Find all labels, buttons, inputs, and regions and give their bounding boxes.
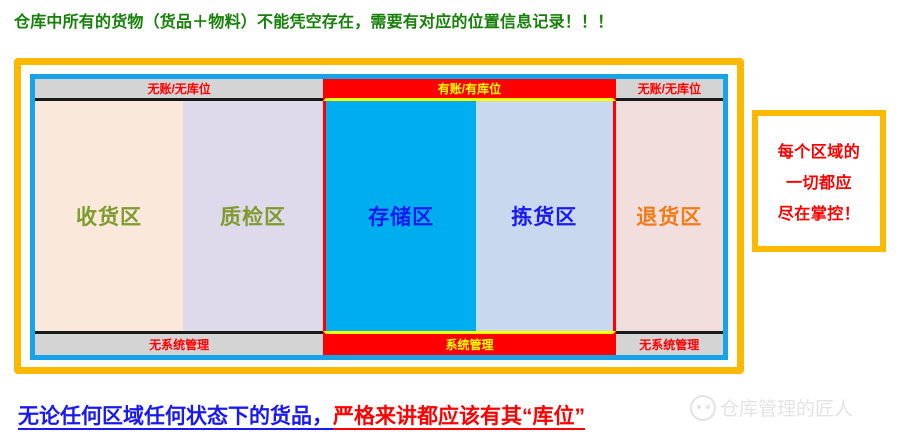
slide-root: 仓库中所有的货物（货品＋物料）不能凭空存在，需要有对应的位置信息记录！！！ 无账…	[0, 0, 900, 445]
top-band-mid-has-account: 有账/有库位	[323, 79, 615, 101]
bottom-band-left-no-system: 无系统管理	[35, 331, 323, 355]
zone-picking[interactable]: 拣货区	[476, 101, 616, 331]
callout-line-1: 每个区域的	[778, 138, 861, 162]
footer-statement-red: 严格来讲都应该有其“库位”	[333, 405, 585, 428]
zone-quality-inspection[interactable]: 质检区	[183, 101, 323, 331]
bottom-band-mid-system-managed: 系统管理	[323, 331, 615, 355]
callout-line-2: 一切都应	[786, 169, 852, 193]
zone-returns[interactable]: 退货区	[616, 101, 723, 331]
zone-returns-label: 退货区	[636, 201, 702, 231]
top-band-right-no-account: 无账/无库位	[616, 79, 723, 101]
warehouse-inner-frame: 无账/无库位 有账/有库位 无账/无库位 收货区 质检区 存储区	[30, 74, 728, 360]
top-band-left-no-account: 无账/无库位	[35, 79, 323, 101]
footer-statement-blue: 无论任何区域任何状态下的货品，	[18, 405, 333, 428]
zone-storage[interactable]: 存储区	[323, 101, 476, 331]
callout-line-3: 尽在掌控！	[778, 200, 861, 224]
top-status-band: 无账/无库位 有账/有库位 无账/无库位	[35, 79, 723, 101]
warehouse-diagram-frame: 无账/无库位 有账/有库位 无账/无库位 收货区 质检区 存储区	[14, 58, 744, 374]
zone-storage-label: 存储区	[368, 201, 434, 231]
bottom-band-right-no-system: 无系统管理	[616, 331, 723, 355]
zone-picking-label: 拣货区	[511, 201, 577, 231]
page-title: 仓库中所有的货物（货品＋物料）不能凭空存在，需要有对应的位置信息记录！！！	[14, 8, 874, 32]
warehouse-layout-grid: 无账/无库位 有账/有库位 无账/无库位 收货区 质检区 存储区	[35, 79, 723, 355]
callout-box: 每个区域的 一切都应 尽在掌控！	[752, 110, 886, 252]
zone-receiving[interactable]: 收货区	[35, 101, 183, 331]
footer-statement: 无论任何区域任何状态下的货品，严格来讲都应该有其“库位”	[18, 400, 888, 430]
bottom-status-band: 无系统管理 系统管理 无系统管理	[35, 331, 723, 355]
zone-receiving-label: 收货区	[76, 201, 142, 231]
zone-quality-inspection-label: 质检区	[220, 201, 286, 231]
zone-row: 收货区 质检区 存储区 拣货区 退货区	[35, 101, 723, 331]
